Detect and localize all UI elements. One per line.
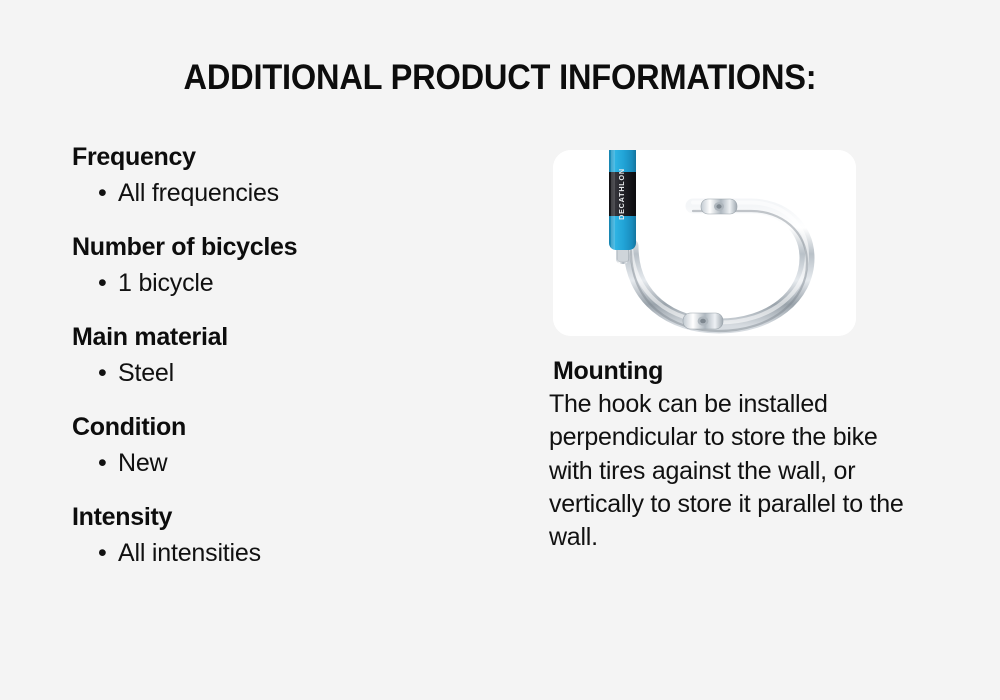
spec-label: Intensity: [72, 502, 502, 533]
spec-value-list: • 1 bicycle: [72, 267, 502, 301]
spec-group-condition: Condition • New: [72, 412, 502, 480]
spec-value-list: • Steel: [72, 357, 502, 391]
product-photo: DECATHLON: [553, 150, 856, 336]
specifications-list: Frequency • All frequencies Number of bi…: [72, 142, 502, 570]
spec-label: Condition: [72, 412, 502, 443]
brand-label: DECATHLON: [617, 168, 626, 220]
spec-value-list: • New: [72, 447, 502, 481]
spec-value-item: • 1 bicycle: [72, 267, 502, 301]
mounting-section: Mounting The hook can be installed perpe…: [549, 356, 921, 554]
spec-label: Number of bicycles: [72, 232, 502, 263]
spec-value-list: • All frequencies: [72, 177, 502, 211]
spec-group-main-material: Main material • Steel: [72, 322, 502, 390]
mounting-plate-bottom: [683, 313, 723, 329]
spec-group-number-of-bicycles: Number of bicycles • 1 bicycle: [72, 232, 502, 300]
spec-group-frequency: Frequency • All frequencies: [72, 142, 502, 210]
mounting-title: Mounting: [553, 356, 921, 386]
spec-value-list: • All intensities: [72, 537, 502, 571]
spec-value-text: New: [118, 449, 167, 477]
bullet-icon: •: [98, 447, 107, 481]
spec-value-text: 1 bicycle: [118, 269, 213, 297]
mounting-description: The hook can be installed perpendicular …: [549, 388, 921, 554]
spec-group-intensity: Intensity • All intensities: [72, 502, 502, 570]
bullet-icon: •: [98, 537, 107, 571]
spec-label: Main material: [72, 322, 502, 353]
spec-value-item: • All frequencies: [72, 177, 502, 211]
product-info-panel: ADDITIONAL PRODUCT INFORMATIONS: Frequen…: [0, 0, 1000, 700]
spec-value-text: All intensities: [118, 539, 261, 567]
media-column: DECATHLON Mounting The hook can be insta…: [549, 150, 921, 554]
spec-value-text: All frequencies: [118, 179, 279, 207]
bullet-icon: •: [98, 177, 107, 211]
spec-value-text: Steel: [118, 359, 174, 387]
bullet-icon: •: [98, 267, 107, 301]
spec-value-item: • Steel: [72, 357, 502, 391]
spec-value-item: • New: [72, 447, 502, 481]
spec-value-item: • All intensities: [72, 537, 502, 571]
bullet-icon: •: [98, 357, 107, 391]
page-title: ADDITIONAL PRODUCT INFORMATIONS:: [35, 58, 965, 98]
mounting-plate-top: [701, 199, 737, 214]
product-image-card: DECATHLON: [553, 150, 856, 336]
spec-label: Frequency: [72, 142, 502, 173]
